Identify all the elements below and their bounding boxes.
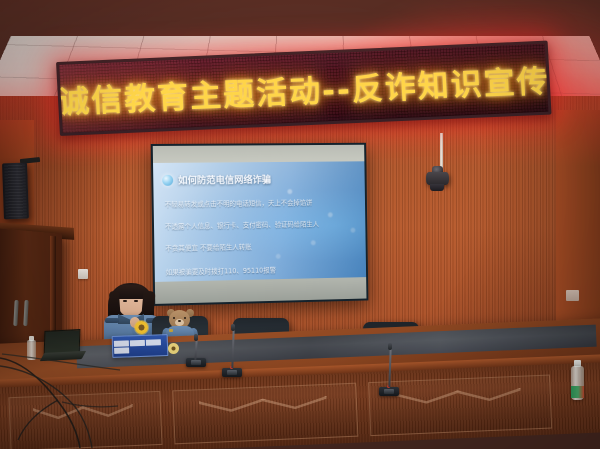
wall-outlet-plate [566, 290, 579, 301]
screen-top-band [153, 145, 365, 163]
bottle-body [571, 366, 584, 400]
microphone-head-center [231, 324, 235, 331]
person-eye-left [123, 300, 127, 302]
bottle-label [571, 386, 584, 398]
sign-cell [130, 339, 145, 346]
sign-cell [114, 340, 129, 347]
sign-cell [146, 339, 161, 346]
presentation-slide: 如何防范电信网络诈骗 不轻易转发或点击不明的电话短信，天上不会掉馅饼 不透露个人… [153, 161, 366, 282]
camera-base [430, 184, 444, 191]
microphone-head-left [194, 334, 198, 341]
screen-bottom-band [155, 277, 367, 304]
person-eye-right [134, 300, 138, 302]
floor-cables [0, 352, 210, 448]
bear-eye-right [184, 317, 186, 319]
water-bottle-right [571, 360, 584, 400]
slide-line-1: 不轻易转发或点击不明的电话短信，天上不会掉馅饼 [165, 197, 313, 209]
speaker-grille [4, 165, 27, 218]
slide-title: 如何防范电信网络诈骗 [178, 172, 271, 187]
projection-screen: 如何防范电信网络诈骗 不轻易转发或点击不明的电话短信，天上不会掉馅饼 不透露个人… [151, 143, 369, 306]
slide-line-3: 不贪其便宜 不要给陌生人转账 [165, 241, 251, 253]
bear-nose [178, 320, 181, 322]
slide-line-4: 如果被骗要及时拨打110、95110报警 [166, 264, 276, 276]
table-panel-3 [368, 375, 552, 437]
wall-speaker [2, 163, 29, 220]
slide-title-row: 如何防范电信网络诈骗 [162, 172, 271, 187]
conference-room-photo: 诚信教育主题活动--反诈知识宣传 如何防范电信网络诈骗 不轻易转发或点击不明的电… [0, 0, 600, 449]
light-switch[interactable] [78, 269, 88, 279]
bear-badge-icon [169, 329, 173, 332]
microphone-base-right[interactable] [379, 387, 399, 396]
microphone-base-center[interactable] [222, 368, 242, 377]
person-epaulet-left [105, 318, 119, 323]
microphone-head-right [388, 343, 392, 350]
bear-eye-left [173, 317, 175, 319]
slide-bullet-icon [162, 174, 173, 185]
